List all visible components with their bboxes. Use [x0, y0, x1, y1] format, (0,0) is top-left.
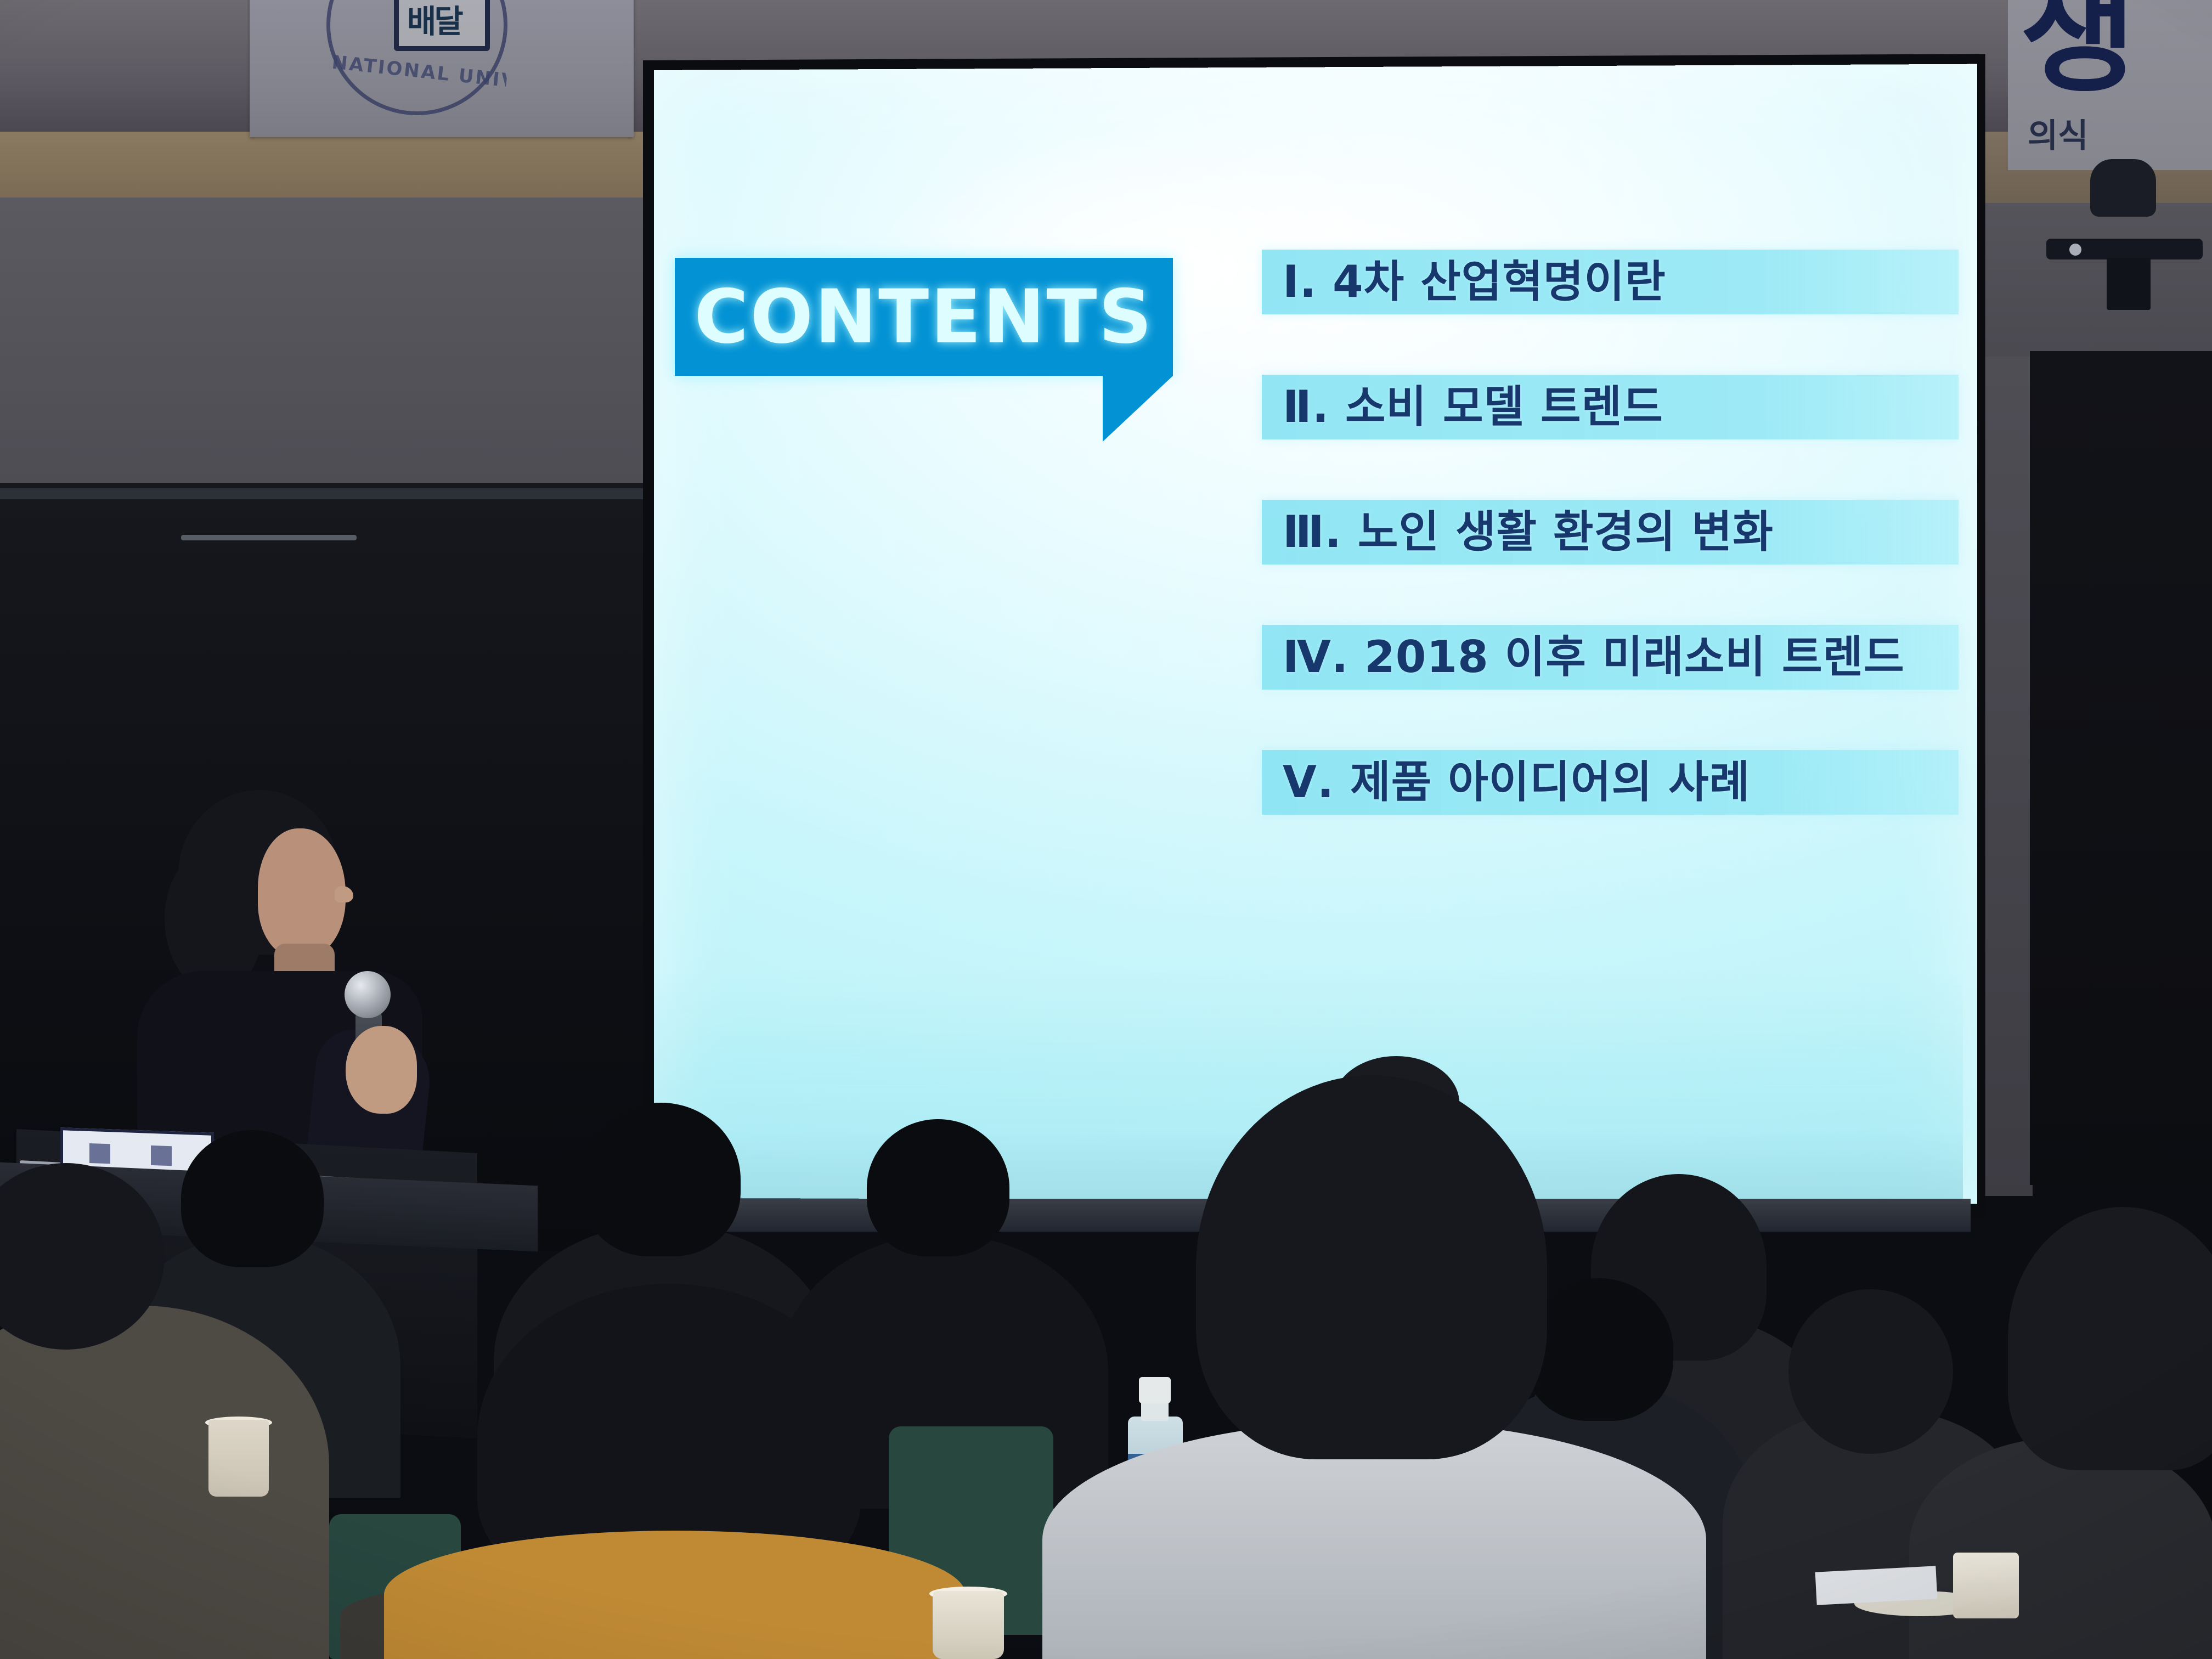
- contents-banner-tail-icon: [1103, 376, 1173, 442]
- paper-mark: [151, 1145, 172, 1166]
- attendee-head: [1196, 1075, 1547, 1459]
- emblem-glyph-text: 배달: [407, 5, 477, 38]
- contents-item-label: Ⅳ. 2018 이후 미래소비 트렌드: [1283, 634, 1905, 680]
- bottle-neck: [1141, 1401, 1169, 1421]
- contents-item-2: Ⅱ. 소비 모델 트렌드: [1262, 375, 1959, 439]
- wall-right-dark: [2030, 351, 2212, 1185]
- contents-item-1: Ⅰ. 4차 산업혁명이란: [1262, 250, 1959, 314]
- contents-item-5: Ⅴ. 제품 아이디어의 사례: [1262, 750, 1959, 815]
- wall-band-left: [0, 132, 664, 203]
- contents-item-label: Ⅱ. 소비 모델 트렌드: [1283, 384, 1663, 430]
- paper-mark: [89, 1143, 110, 1164]
- contents-banner-label: CONTENTS: [694, 280, 1153, 354]
- microphone-icon: [345, 971, 391, 1018]
- contents-item-label: Ⅴ. 제품 아이디어의 사례: [1283, 759, 1750, 805]
- attendee-head: [867, 1119, 1009, 1256]
- paper-cup: [208, 1420, 269, 1497]
- presenter-face: [258, 828, 346, 957]
- wall-mid-left: [0, 198, 658, 505]
- contents-item-label: Ⅲ. 노인 생활 환경의 변화: [1283, 509, 1774, 555]
- contents-banner-bar: CONTENTS: [675, 258, 1173, 376]
- attendee-head: [181, 1130, 324, 1267]
- contents-item-3: Ⅲ. 노인 생활 환경의 변화: [1262, 500, 1959, 565]
- attendee-head: [1788, 1289, 1953, 1454]
- attendee-scarf: [384, 1531, 966, 1659]
- paper-cup: [933, 1591, 1004, 1659]
- wall-banner-right: 생 의식: [2008, 0, 2212, 170]
- wall-trim-strip: [0, 488, 656, 499]
- slide-title-banner: CONTENTS: [675, 258, 1196, 466]
- attendee-head: [1525, 1278, 1673, 1421]
- presenter-profile-nose: [335, 886, 353, 902]
- bottle-cap: [1139, 1377, 1171, 1403]
- slide-contents-list: Ⅰ. 4차 산업혁명이란 Ⅱ. 소비 모델 트렌드 Ⅲ. 노인 생활 환경의 변…: [1262, 250, 1959, 815]
- contents-item-label: Ⅰ. 4차 산업혁명이란: [1283, 259, 1666, 305]
- paper-cup: [1953, 1553, 2019, 1618]
- projector-icon: [2090, 159, 2156, 217]
- wall-right-panel: [1953, 203, 2212, 362]
- wall-light-fixture: [181, 535, 357, 540]
- projector-post: [2107, 258, 2151, 310]
- attendee-shoulders: [1909, 1437, 2212, 1659]
- attendee-shoulders: [0, 1306, 329, 1659]
- paper-sheet: [1815, 1566, 1938, 1605]
- projector-lens-icon: [2069, 244, 2081, 256]
- contents-item-4: Ⅳ. 2018 이후 미래소비 트렌드: [1262, 625, 1959, 690]
- attendee-head: [2008, 1207, 2212, 1470]
- banner-subline: 의식: [2028, 120, 2088, 153]
- lecture-hall-scene: 배달 NATIONAL UNIVERSITY 생 의식 CONTENTS Ⅰ. …: [0, 0, 2212, 1659]
- attendee-head: [582, 1103, 741, 1256]
- presenter-hand: [346, 1026, 417, 1114]
- banner-headline: 생: [2020, 0, 2138, 100]
